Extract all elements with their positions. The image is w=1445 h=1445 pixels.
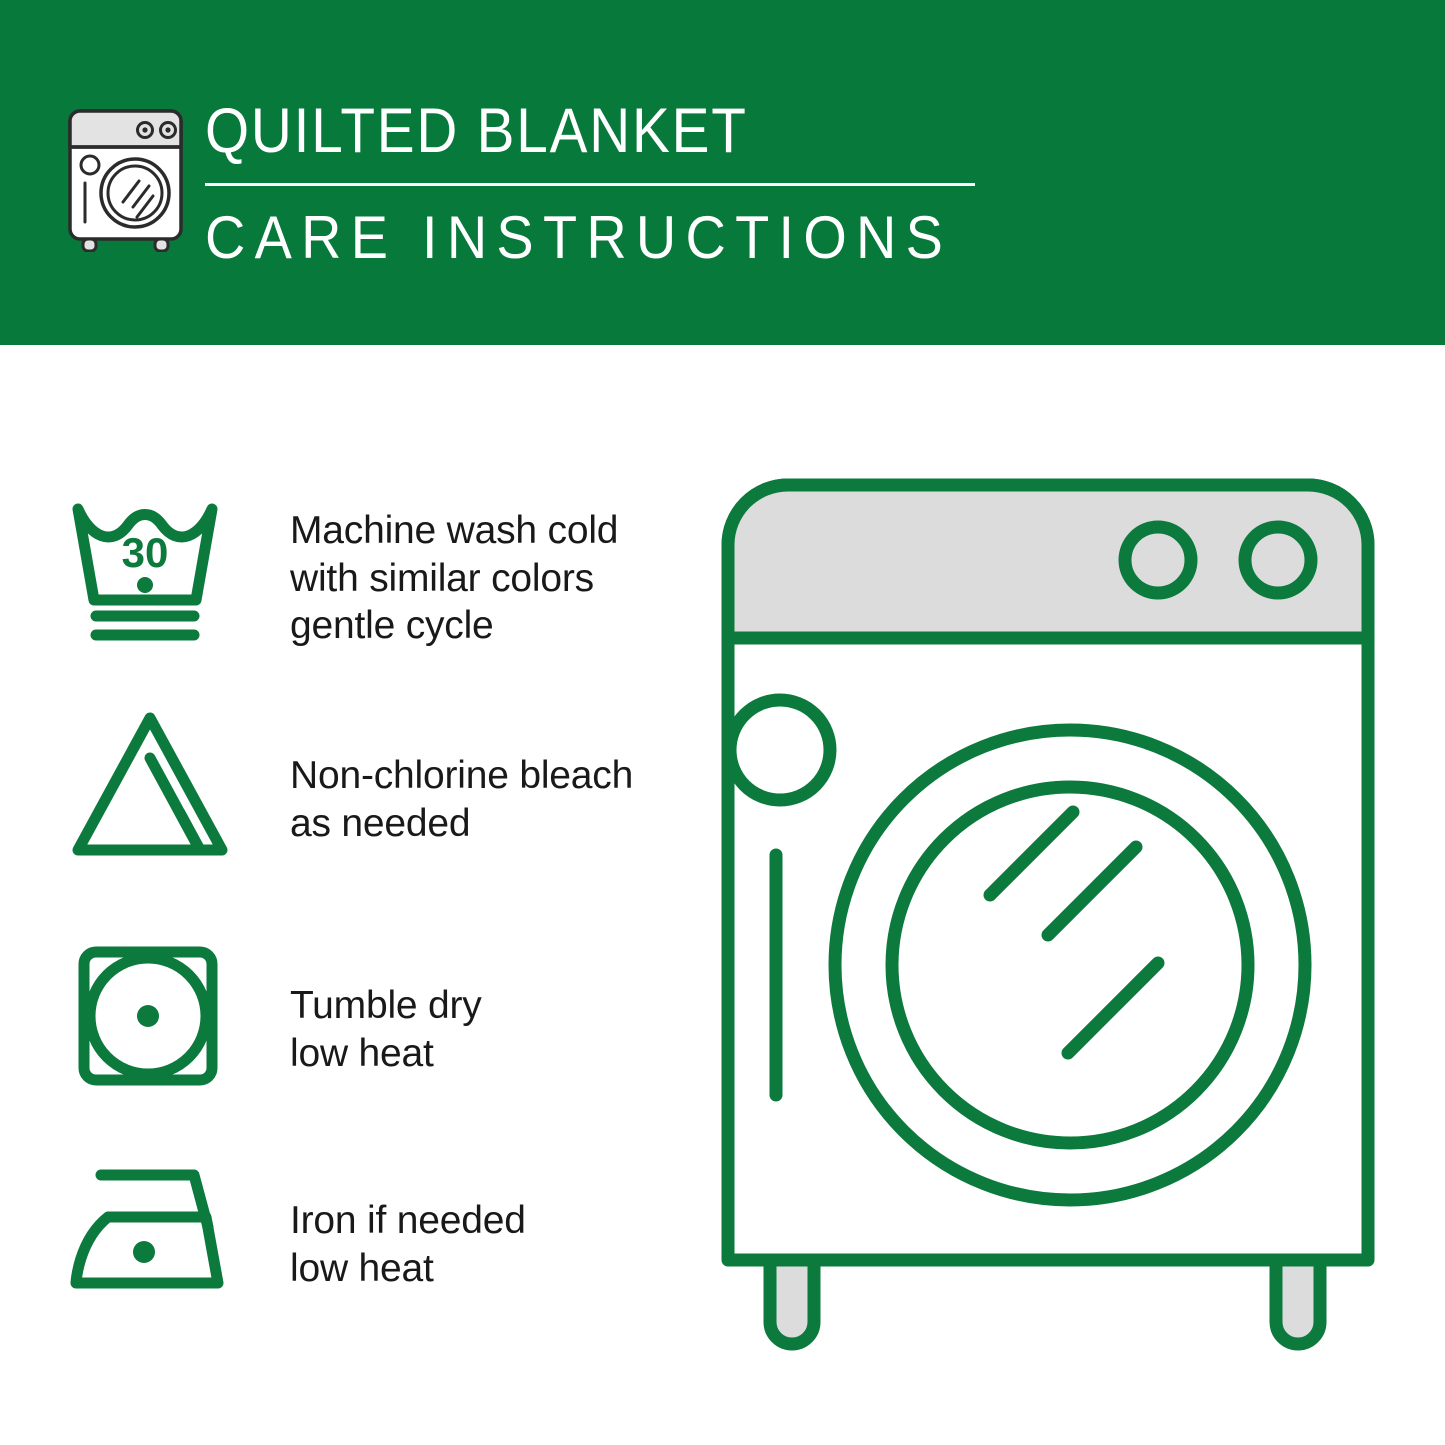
care-item-iron: Iron if needed low heat — [0, 1155, 700, 1355]
page-subtitle: CARE INSTRUCTIONS — [205, 208, 940, 268]
title-divider — [205, 183, 975, 186]
care-item-label: Machine wash cold with similar colors ge… — [290, 507, 618, 650]
care-symbol-list: 30 Machine wash cold with similar colors… — [0, 345, 700, 1445]
washing-machine-illustration — [718, 475, 1378, 1365]
care-item-label: Non-chlorine bleach as needed — [290, 752, 633, 847]
care-item-bleach: Non-chlorine bleach as needed — [0, 710, 700, 910]
washing-machine-icon — [63, 107, 188, 252]
page-title: QUILTED BLANKET — [205, 100, 916, 163]
care-instructions-page: QUILTED BLANKET CARE INSTRUCTIONS 30 — [0, 0, 1445, 1445]
svg-text:30: 30 — [122, 529, 169, 576]
tumble-dry-icon — [68, 940, 233, 1100]
care-item-tumble-dry: Tumble dry low heat — [0, 940, 700, 1140]
care-item-label: Tumble dry low heat — [290, 982, 482, 1077]
wash-tub-30-icon: 30 — [68, 495, 233, 655]
care-item-machine-wash: 30 Machine wash cold with similar colors… — [0, 495, 700, 695]
bleach-triangle-icon — [68, 710, 233, 870]
header-banner: QUILTED BLANKET CARE INSTRUCTIONS — [0, 0, 1445, 345]
iron-icon — [68, 1155, 233, 1315]
care-item-label: Iron if needed low heat — [290, 1197, 526, 1292]
header-text-block: QUILTED BLANKET CARE INSTRUCTIONS — [205, 100, 995, 268]
